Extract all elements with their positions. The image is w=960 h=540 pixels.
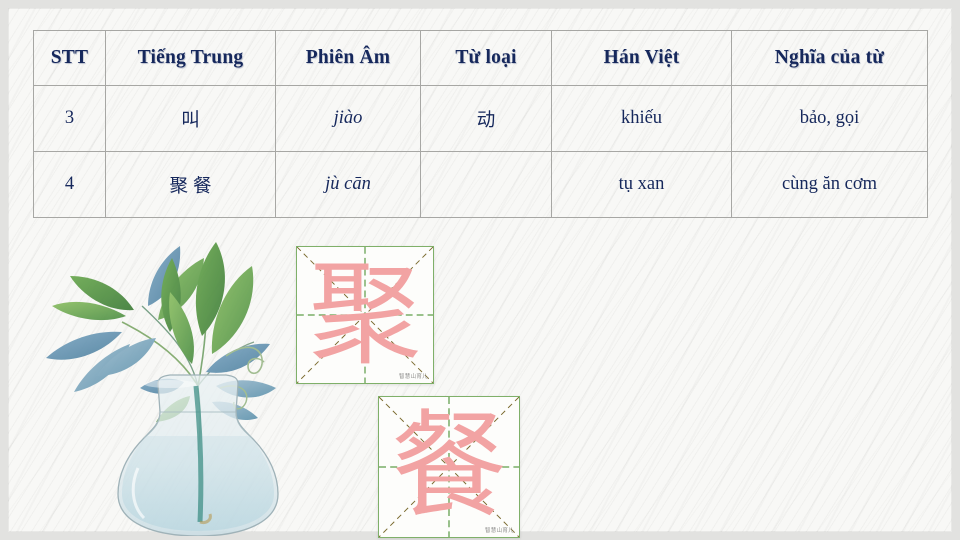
cell-tuloai: 动 — [421, 86, 552, 152]
table-header-row: STT Tiếng Trung Phiên Âm Từ loại Hán Việ… — [34, 31, 928, 86]
column-header-tuloai: Từ loại — [421, 31, 552, 86]
stroke-grid-can: 餐 智慧山育儿 — [378, 396, 520, 538]
cell-nghia: cùng ăn cơm — [732, 152, 928, 218]
cell-stt: 3 — [34, 86, 106, 152]
column-header-nghia: Nghĩa của từ — [732, 31, 928, 86]
column-header-pinyin: Phiên Âm — [276, 31, 421, 86]
stroke-grid-ju: 聚 智慧山育儿 — [296, 246, 434, 384]
cell-hanviet: khiếu — [552, 86, 732, 152]
stroke-grid-character: 聚 — [297, 247, 433, 383]
slide-canvas: STT Tiếng Trung Phiên Âm Từ loại Hán Việ… — [0, 0, 960, 540]
table-row: 4 聚餐 jù cān tụ xan cùng ăn cơm — [34, 152, 928, 218]
vocabulary-table: STT Tiếng Trung Phiên Âm Từ loại Hán Việ… — [33, 30, 928, 218]
column-header-hanviet: Hán Việt — [552, 31, 732, 86]
cell-pinyin: jiào — [276, 86, 421, 152]
stroke-grid-character: 餐 — [379, 397, 519, 537]
cell-hanzi: 叫 — [106, 86, 276, 152]
grid-watermark: 智慧山育儿 — [485, 526, 514, 534]
column-header-hanzi: Tiếng Trung — [106, 31, 276, 86]
glass-vase — [118, 375, 278, 536]
cell-hanzi: 聚餐 — [106, 152, 276, 218]
cell-stt: 4 — [34, 152, 106, 218]
cell-pinyin: jù cān — [276, 152, 421, 218]
vase-illustration — [30, 236, 292, 536]
cell-tuloai — [421, 152, 552, 218]
slide-background: STT Tiếng Trung Phiên Âm Từ loại Hán Việ… — [8, 8, 952, 532]
grid-watermark: 智慧山育儿 — [399, 372, 428, 380]
table-row: 3 叫 jiào 动 khiếu bảo, gọi — [34, 86, 928, 152]
cell-nghia: bảo, gọi — [732, 86, 928, 152]
cell-hanviet: tụ xan — [552, 152, 732, 218]
column-header-stt: STT — [34, 31, 106, 86]
